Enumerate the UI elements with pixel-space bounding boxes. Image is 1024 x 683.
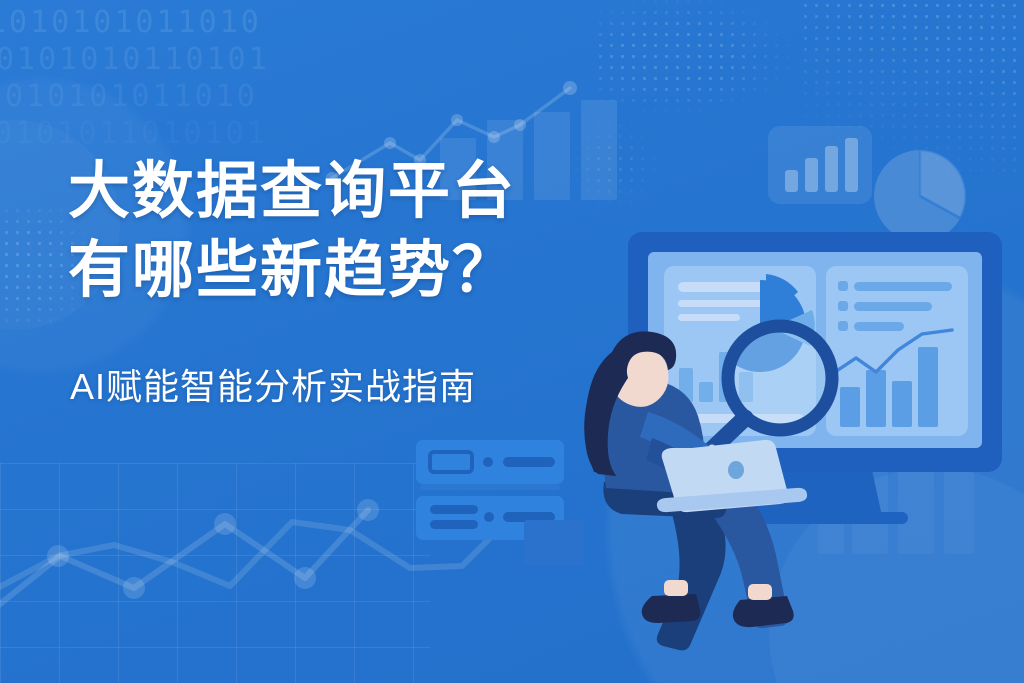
poster-canvas: 1010101011010 0101010110101 101010101101… — [0, 0, 1024, 683]
dashboard-illustration — [0, 0, 1024, 683]
shoe-front — [733, 596, 794, 627]
shoe-back — [642, 594, 701, 623]
ankle-back — [664, 580, 688, 596]
headline-line-1: 大数据查询平台 — [68, 152, 668, 231]
monitor-right-panel — [826, 266, 968, 436]
headline-line-2: 有哪些新趋势？ — [68, 231, 668, 310]
page-subtitle: AI赋能智能分析实战指南 — [70, 358, 476, 410]
page-title: 大数据查询平台 有哪些新趋势？ — [68, 152, 668, 310]
ankle-front — [748, 584, 772, 600]
